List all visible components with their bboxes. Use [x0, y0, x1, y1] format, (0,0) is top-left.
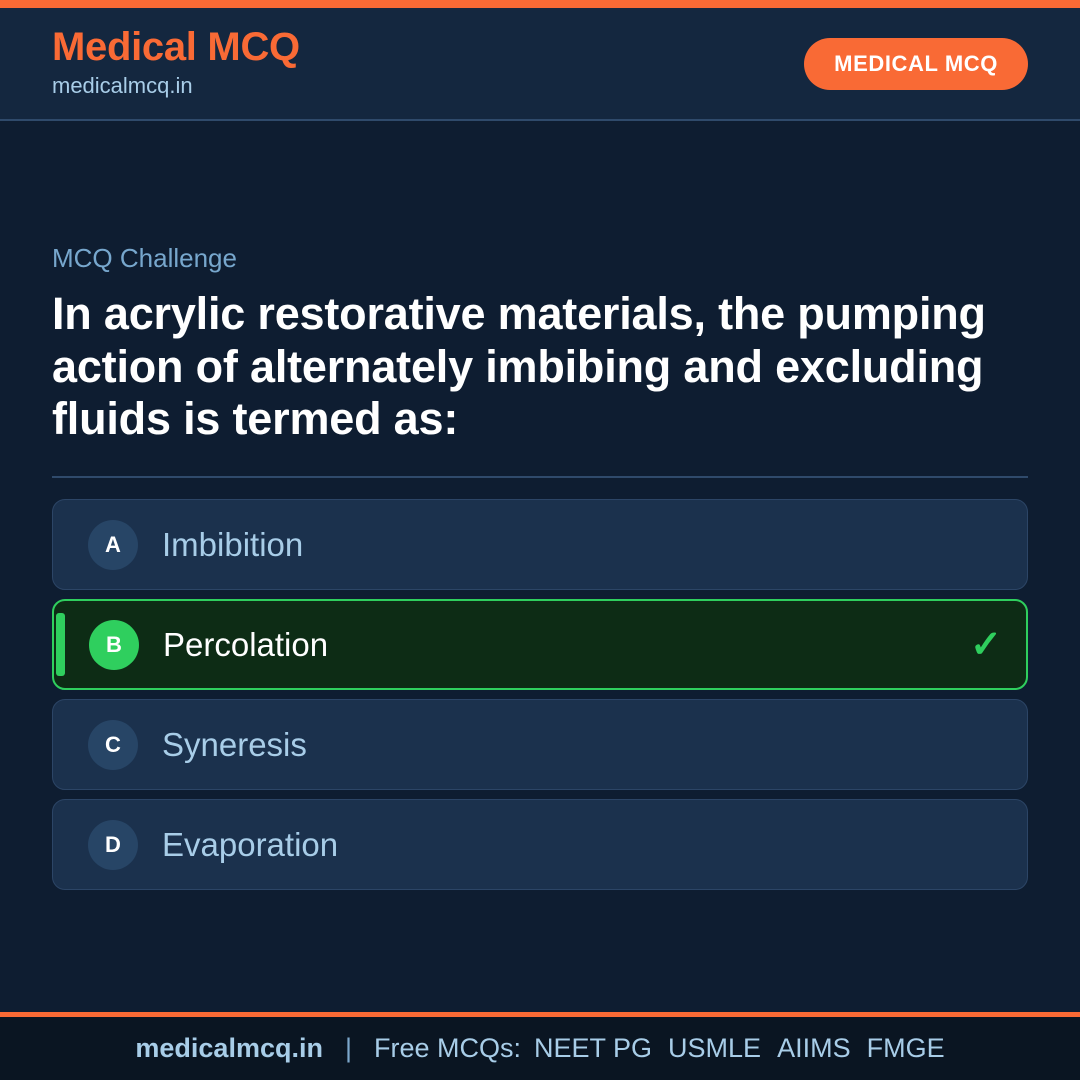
header-badge: MEDICAL MCQ	[804, 38, 1028, 90]
brand-title: Medical MCQ	[52, 26, 300, 69]
option-letter-badge: B	[89, 620, 139, 670]
option-d[interactable]: D Evaporation	[52, 799, 1028, 890]
option-a[interactable]: A Imbibition	[52, 499, 1028, 590]
option-label: Evaporation	[162, 825, 338, 865]
question-text: In acrylic restorative materials, the pu…	[52, 288, 1028, 446]
option-letter-badge: C	[88, 720, 138, 770]
header: Medical MCQ medicalmcq.in MEDICAL MCQ	[0, 8, 1080, 121]
question-divider	[52, 476, 1028, 478]
option-letter-badge: A	[88, 520, 138, 570]
option-label: Percolation	[163, 625, 328, 665]
brand-subtitle: medicalmcq.in	[52, 71, 300, 101]
option-c[interactable]: C Syneresis	[52, 699, 1028, 790]
mcq-card: Medical MCQ medicalmcq.in MEDICAL MCQ MC…	[0, 0, 1080, 1080]
option-label: Imbibition	[162, 525, 303, 565]
footer-text: medicalmcq.in | Free MCQs: NEET PG USMLE…	[135, 1033, 944, 1064]
correct-accent-bar	[56, 613, 65, 676]
eyebrow-label: MCQ Challenge	[52, 243, 1028, 274]
options-list: A Imbibition B Percolation ✓ C Syneresis…	[52, 499, 1028, 890]
footer-exam-usmle: USMLE	[668, 1033, 761, 1064]
option-letter-badge: D	[88, 820, 138, 870]
option-label: Syneresis	[162, 725, 307, 765]
footer-site-link[interactable]: medicalmcq.in	[135, 1033, 323, 1064]
footer-separator: |	[345, 1033, 352, 1064]
footer: medicalmcq.in | Free MCQs: NEET PG USMLE…	[0, 1012, 1080, 1080]
brand-block: Medical MCQ medicalmcq.in	[52, 26, 300, 101]
top-accent-bar	[0, 0, 1080, 8]
footer-label: Free MCQs:	[374, 1033, 521, 1064]
option-b[interactable]: B Percolation ✓	[52, 599, 1028, 690]
check-icon: ✓	[970, 626, 1002, 664]
footer-exam-aiims: AIIMS	[777, 1033, 851, 1064]
footer-exam-neet-pg: NEET PG	[534, 1033, 652, 1064]
footer-exam-fmge: FMGE	[867, 1033, 945, 1064]
main-content: MCQ Challenge In acrylic restorative mat…	[0, 121, 1080, 1012]
